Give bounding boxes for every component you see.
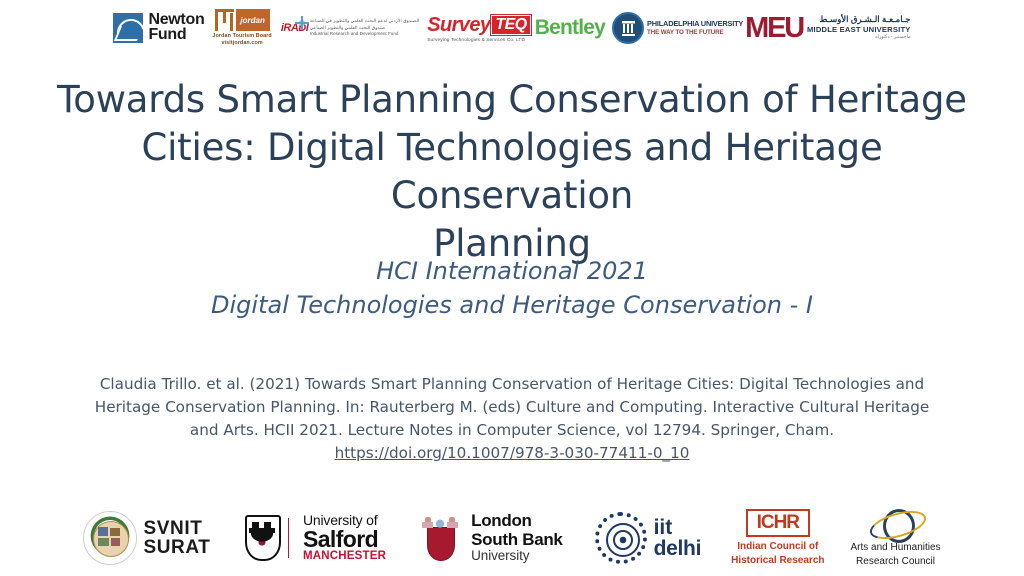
philadelphia-name: PHILADELPHIA UNIVERSITY — [647, 20, 743, 29]
iit-delhi-line1: iit — [654, 517, 702, 538]
subtitle-line-2: Digital Technologies and Heritage Conser… — [62, 289, 962, 323]
salford-line3: MANCHESTER — [303, 551, 386, 563]
surveyteq-wordmark-row: Survey TEQ — [427, 14, 531, 37]
jordan-wordmark: jordan — [236, 9, 270, 31]
iit-delhi-logo: iit delhi — [595, 512, 702, 564]
iradi-logo: iRADI الصندوق الأردني لدعم البحث العلمي … — [281, 15, 419, 41]
lsbu-line2: South Bank — [471, 531, 562, 549]
iradi-caption-arabic-1: الصندوق الأردني لدعم البحث العلمي والتطو… — [310, 18, 419, 25]
citation-line-3: and Arts. HCII 2021. Lecture Notes in Co… — [28, 419, 996, 442]
salford-divider — [288, 518, 290, 558]
iradi-caption-english: Industrial Research and Development Fund — [310, 31, 419, 38]
iradi-icon: iRADI — [281, 15, 307, 41]
ichr-line2: Historical Research — [731, 554, 824, 568]
jordan-caption: Jordan Tourism Board visitjordan.com — [212, 33, 271, 47]
page-title: Towards Smart Planning Conservation of H… — [26, 76, 998, 268]
title-line-2: Cities: Digital Technologies and Heritag… — [26, 124, 998, 220]
jordan-caption-line2: visitjordan.com — [212, 40, 271, 47]
surveyteq-survey-word: Survey — [427, 14, 490, 37]
jordan-mark-row: jordan — [215, 9, 270, 31]
svnit-surat-logo: SVNIT SURAT — [83, 511, 210, 565]
subtitle-line-1: HCI International 2021 — [62, 255, 962, 289]
ichr-mark-icon: ICHR — [746, 509, 810, 537]
newton-fund-line2: Fund — [148, 28, 204, 43]
middle-east-university-logo: MEU جـامـعـة الـشـرق الأوسـط MIDDLE EAST… — [745, 14, 910, 41]
lsbu-crest-icon — [416, 513, 464, 563]
subtitle: HCI International 2021 Digital Technolog… — [62, 255, 962, 322]
jordan-caption-line1: Jordan Tourism Board — [212, 33, 271, 40]
newton-fund-logo: Newton Fund — [113, 13, 204, 43]
iradi-caption: الصندوق الأردني لدعم البحث العلمي والتطو… — [310, 18, 419, 38]
top-logo-bar: Newton Fund jordan Jordan Tourism Board … — [0, 2, 1024, 54]
svnit-line1: SVNIT — [143, 519, 210, 538]
surveyteq-logo: Survey TEQ Surveying Technologies & Serv… — [427, 14, 531, 43]
bentley-wordmark: Bentley — [535, 16, 605, 40]
meu-name-block: جـامـعـة الـشـرق الأوسـط MIDDLE EAST UNI… — [807, 14, 911, 41]
doi-link[interactable]: https://doi.org/10.1007/978-3-030-77411-… — [335, 444, 690, 462]
citation: Claudia Trillo. et al. (2021) Towards Sm… — [28, 373, 996, 465]
salford-line2: Salford — [303, 528, 386, 551]
ichr-line1: Indian Council of — [731, 540, 824, 554]
ichr-logo: ICHR Indian Council of Historical Resear… — [731, 509, 824, 567]
bottom-logo-bar: SVNIT SURAT University of Salford MANCHE… — [0, 500, 1024, 576]
bentley-logo: Bentley — [535, 16, 605, 40]
lsbu-line1: London — [471, 512, 562, 530]
philadelphia-seal-icon — [612, 12, 644, 44]
newton-fund-icon — [113, 13, 143, 43]
iradi-star-icon — [295, 16, 309, 30]
jordan-arabic-glyph-icon — [215, 9, 234, 31]
lsbu-wordmark: London South Bank University — [471, 512, 562, 563]
ichr-caption: Indian Council of Historical Research — [731, 540, 824, 567]
ahrc-mark-icon — [865, 508, 927, 538]
philadelphia-wordmark: PHILADELPHIA UNIVERSITY THE WAY TO THE F… — [647, 20, 743, 36]
iit-delhi-seal-icon — [595, 512, 647, 564]
svnit-line2: SURAT — [143, 538, 210, 557]
meu-name-arabic: جـامـعـة الـشـرق الأوسـط — [807, 14, 911, 25]
meu-name-english: MIDDLE EAST UNIVERSITY — [807, 25, 911, 35]
surveyteq-teq-word: TEQ — [491, 15, 530, 35]
meu-subcaption: ماجستير - دكتوراه — [807, 35, 911, 41]
svnit-seal-icon — [83, 511, 137, 565]
surveyteq-caption: Surveying Technologies & Services Co. LT… — [427, 38, 525, 43]
svnit-wordmark: SVNIT SURAT — [143, 519, 210, 557]
philadelphia-tagline: THE WAY TO THE FUTURE — [647, 29, 743, 36]
meu-wordmark: MEU — [745, 16, 803, 41]
lsbu-line3: University — [471, 549, 562, 564]
ahrc-caption: Arts and Humanities Research Council — [851, 541, 941, 568]
citation-line-1: Claudia Trillo. et al. (2021) Towards Sm… — [28, 373, 996, 396]
jordan-tourism-board-logo: jordan Jordan Tourism Board visitjordan.… — [212, 9, 271, 47]
ahrc-line1: Arts and Humanities — [851, 541, 941, 555]
iit-delhi-line2: delhi — [654, 538, 702, 559]
iit-delhi-wordmark: iit delhi — [654, 517, 702, 559]
citation-line-2: Heritage Conservation Planning. In: Raut… — [28, 396, 996, 419]
newton-fund-wordmark: Newton Fund — [148, 13, 204, 42]
philadelphia-university-logo: PHILADELPHIA UNIVERSITY THE WAY TO THE F… — [612, 12, 743, 44]
university-of-salford-logo: University of Salford MANCHESTER — [245, 513, 387, 562]
salford-shield-icon — [245, 515, 281, 561]
salford-wordmark: University of Salford MANCHESTER — [303, 513, 386, 562]
ahrc-logo: Arts and Humanities Research Council — [851, 508, 941, 568]
london-south-bank-university-logo: London South Bank University — [416, 512, 562, 563]
iradi-caption-arabic-2: صندوق البحث العلمي والتطوير الصناعي — [310, 25, 419, 32]
title-line-1: Towards Smart Planning Conservation of H… — [26, 76, 998, 124]
ahrc-line2: Research Council — [851, 555, 941, 569]
